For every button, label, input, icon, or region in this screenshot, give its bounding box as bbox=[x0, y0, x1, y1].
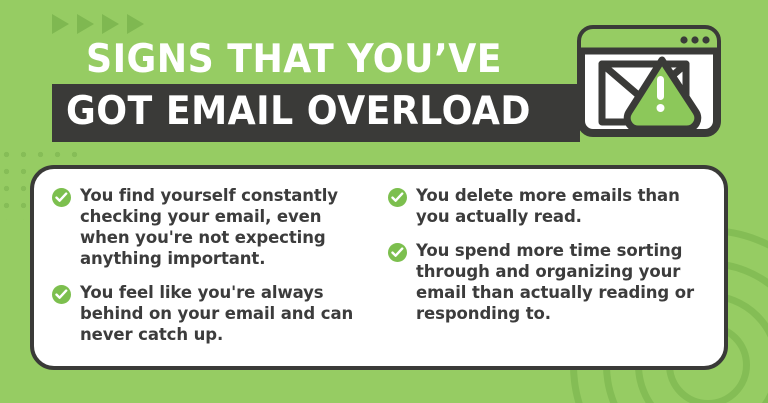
play-arrow-icon bbox=[102, 14, 119, 34]
list-item: You find yourself constantly checking yo… bbox=[52, 185, 374, 269]
list-item: You feel like you're always behind on yo… bbox=[52, 282, 374, 345]
list-item-text: You feel like you're always behind on yo… bbox=[80, 282, 374, 345]
check-circle-icon bbox=[52, 188, 71, 207]
list-item-text: You spend more time sorting through and … bbox=[416, 240, 710, 324]
check-circle-icon bbox=[388, 188, 407, 207]
page-title-banner: GOT EMAIL OVERLOAD bbox=[52, 84, 580, 142]
list-item: You delete more emails than you actually… bbox=[388, 185, 710, 227]
page-title-line2: GOT EMAIL OVERLOAD bbox=[66, 91, 531, 133]
list-item: You spend more time sorting through and … bbox=[388, 240, 710, 324]
bullet-column-left: You find yourself constantly checking yo… bbox=[52, 185, 374, 350]
infographic-canvas: SIGNS THAT YOU’VE GOT EMAIL OVERLOAD bbox=[0, 0, 768, 403]
play-arrow-icon bbox=[77, 14, 94, 34]
play-arrow-icon bbox=[52, 14, 69, 34]
check-circle-icon bbox=[52, 285, 71, 304]
list-item-text: You delete more emails than you actually… bbox=[416, 185, 710, 227]
check-circle-icon bbox=[388, 243, 407, 262]
play-arrow-icon bbox=[127, 14, 144, 34]
signs-card: You find yourself constantly checking yo… bbox=[30, 165, 728, 370]
page-title-line1: SIGNS THAT YOU’VE bbox=[86, 38, 502, 82]
arrow-row bbox=[52, 14, 144, 34]
list-item-text: You find yourself constantly checking yo… bbox=[80, 185, 374, 269]
bullet-column-right: You delete more emails than you actually… bbox=[374, 185, 710, 350]
email-overload-icon bbox=[576, 24, 722, 138]
